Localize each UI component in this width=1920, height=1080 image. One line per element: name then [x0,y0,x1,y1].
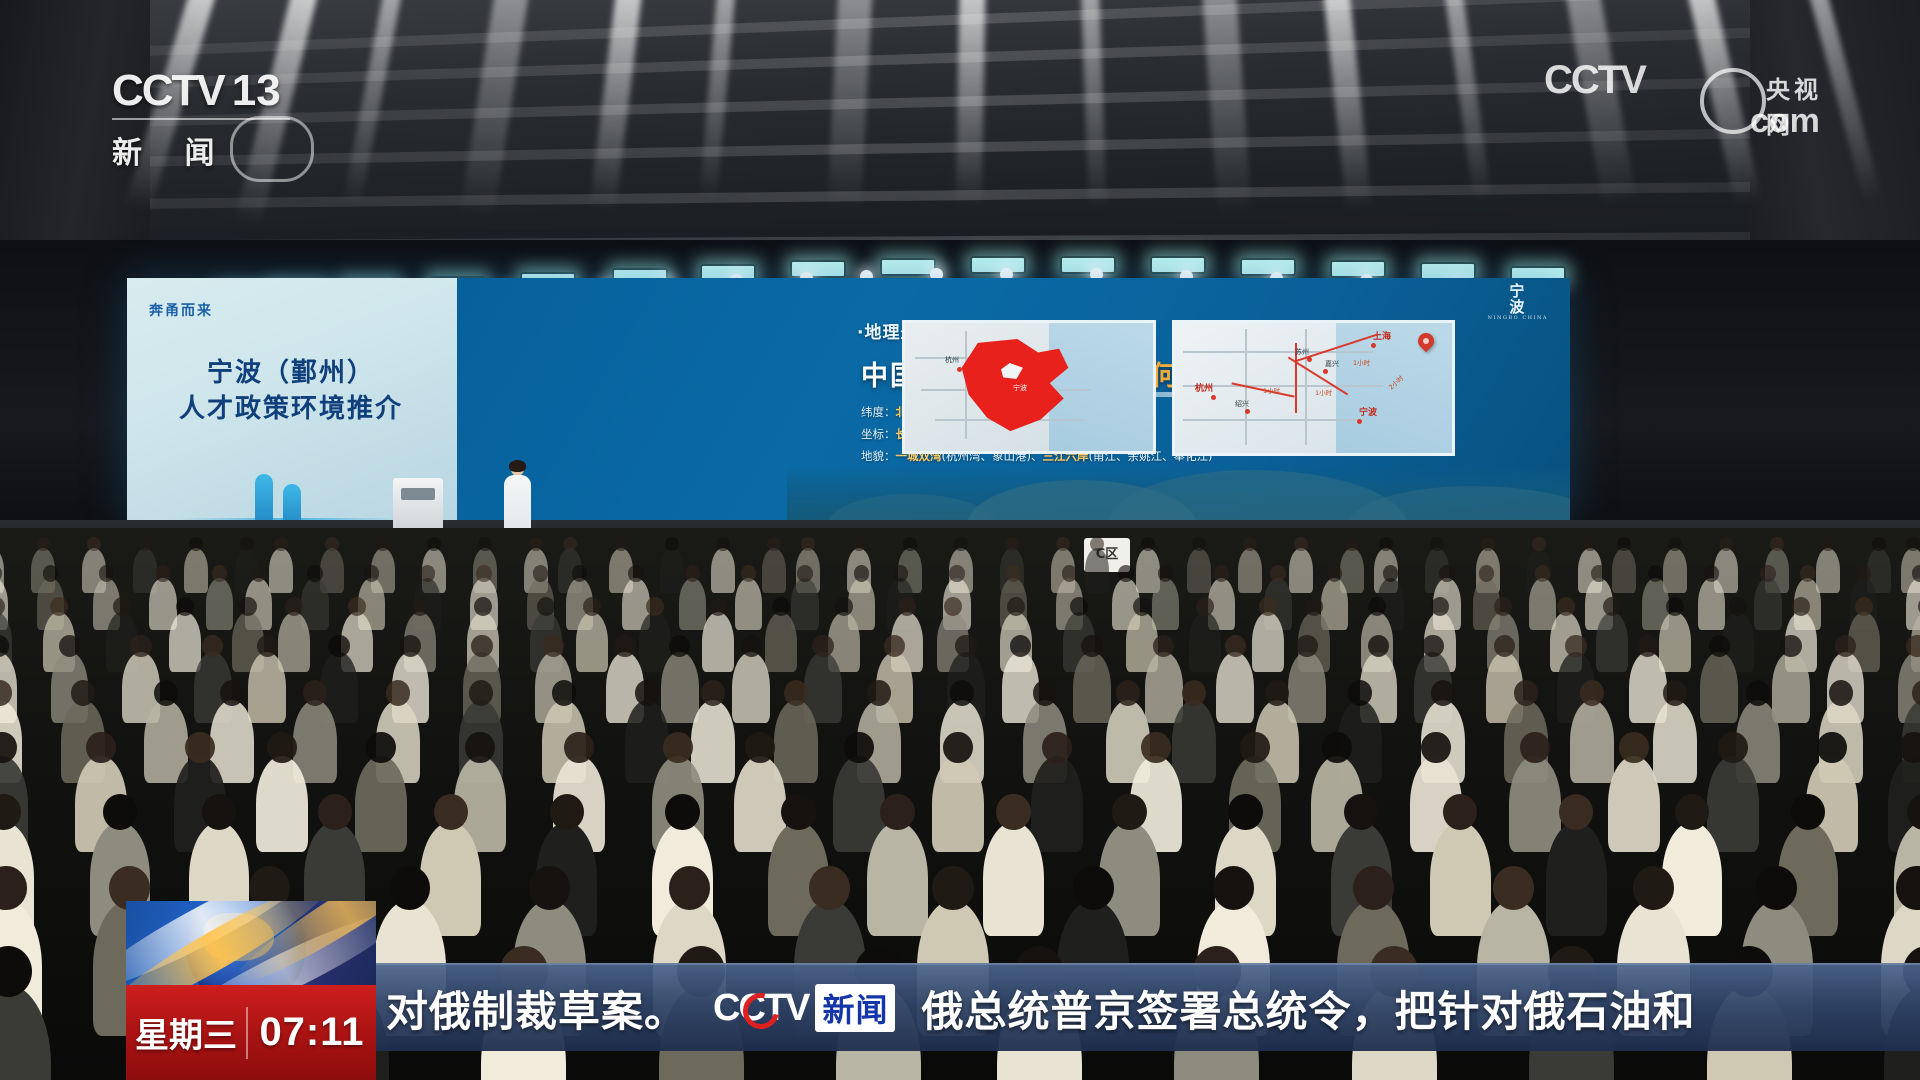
slide-title-line1: 宁波（鄞州） [141,356,441,392]
coastline-photo-band [787,466,1570,526]
stage-led-screen: 奔甬而来 宁波（鄞州） 人才政策环境推介 ·地理坐标： 中国黄金海岸线的「几何 [127,278,1570,526]
map-time-label-2: 1小时 [1263,385,1280,395]
clock-time: 07:11 [248,1010,376,1055]
cctvcom-dotcom: com [1750,102,1820,141]
cctv13-ring-icon [230,116,314,182]
ningbo-brand-logo: 宁 波 NINGBO CHINA [1488,284,1548,321]
map-city-label-shanghai: 上海 [1373,329,1391,342]
zone-sign-c: C区 [1084,538,1130,572]
geo-detail-label-0: 纬度： [861,405,896,419]
map-city-label-hangzhou: 杭州 [1195,381,1213,394]
map-city-label-hangzhou: 杭州 [945,355,959,365]
cctv-news-label: 新闻 [815,984,895,1032]
ningbo-brand-line2: 波 [1488,300,1548,316]
ticker-previous-headline: 对俄制裁草案。 [386,978,687,1039]
cctvcom-wordmark: CCTV [1544,58,1645,103]
clock-weekday: 星期三 [126,1008,246,1057]
cctv13-channel-logo: CCTV 13 新 闻 [112,62,312,172]
cctv13-channel-number: 13 [232,66,281,116]
slide-kicker: 奔甬而来 [149,300,213,320]
ticker-headline: 俄总统普京签署总统令，把针对俄石油和 [921,978,1695,1039]
news-ticker[interactable]: 对俄制裁草案。 CCTV 新闻 俄总统普京签署总统令，把针对俄石油和 [376,963,1920,1051]
map-city-label-ningbo: 宁波 [1013,383,1027,393]
yangtze-delta-route-map: 上海 苏州 嘉兴 杭州 绍兴 宁波 1小时 1小时 1小时 2小时 [1172,320,1455,456]
geo-detail-label-1: 坐标： [861,427,896,441]
broadcast-frame: 奔甬而来 宁波（鄞州） 人才政策环境推介 ·地理坐标： 中国黄金海岸线的「几何 [0,0,1920,1080]
ningbo-brand-english: NINGBO CHINA [1488,316,1548,321]
map-time-label-0: 1小时 [1353,357,1370,367]
zhejiang-province-map: 杭州 宁波 [902,320,1156,454]
map-city-label-jiaxing: 嘉兴 [1325,359,1339,369]
cctv-news-wordmark: CCTV [713,987,808,1030]
clock-block: 星期三 07:11 [126,901,376,1080]
cctv-com-watermark: CCTV 央视网 com [1544,58,1834,142]
map-city-label-shaoxing: 绍兴 [1235,399,1249,409]
map-city-label-ningbo: 宁波 [1359,405,1377,418]
cctv-news-red-arc-icon [736,986,786,1036]
map-city-label-suzhou: 苏州 [1295,347,1309,357]
slide-title: 宁波（鄞州） 人才政策环境推介 [141,356,441,428]
news-globe-graphic [126,901,376,985]
cctv-news-badge: CCTV 新闻 [713,984,895,1032]
map-time-label-1: 1小时 [1315,387,1332,397]
bridge-graphic [179,464,399,526]
slide-title-line2: 人才政策环境推介 [141,392,441,428]
geo-detail-label-2: 地貌： [861,449,896,463]
cctv13-wordmark: CCTV [112,66,224,116]
clock-bar: 星期三 07:11 [126,985,376,1080]
